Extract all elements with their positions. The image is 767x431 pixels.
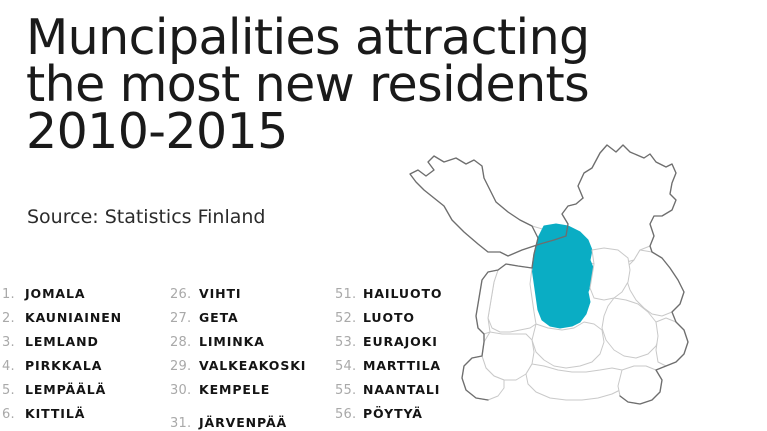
list-item-rank: 6.: [2, 407, 25, 422]
infographic-root: Muncipalities attracting the most new re…: [0, 0, 767, 431]
list-item[interactable]: 55.NAANTALI: [335, 379, 440, 403]
list-item-rank: 26.: [170, 287, 199, 302]
map-region-highlighted: [532, 224, 594, 328]
list-item[interactable]: 2.KAUNIAINEN: [2, 307, 122, 331]
municipality-rankings: 1.JOMALA 2.KAUNIAINEN 3.LEMLAND 4.PIRKKA…: [0, 283, 500, 431]
list-item-rank: 52.: [335, 311, 363, 326]
list-item-label: LUOTO: [363, 310, 415, 325]
source-caption: Source: Statistics Finland: [27, 206, 265, 228]
list-item[interactable]: 31.JÄRVENPÄÄ: [170, 412, 287, 431]
list-item-label: VALKEAKOSKI: [199, 358, 306, 373]
list-item[interactable]: 54.MARTTILA: [335, 355, 441, 379]
list-item-rank: 5.: [2, 383, 25, 398]
map-region-south-shore: [526, 364, 628, 400]
list-item[interactable]: 29.VALKEAKOSKI: [170, 355, 306, 379]
list-item[interactable]: 1.JOMALA: [2, 283, 85, 307]
list-item-rank: 28.: [170, 335, 199, 350]
list-item-rank: 54.: [335, 359, 363, 374]
page-title: Muncipalities attracting the most new re…: [26, 14, 590, 155]
list-item[interactable]: 30.KEMPELE: [170, 379, 270, 403]
list-item-label: PÖYTYÄ: [363, 406, 423, 421]
list-item-rank: 30.: [170, 383, 199, 398]
list-item-label: JOMALA: [25, 286, 85, 301]
list-item-label: PIRKKALA: [25, 358, 102, 373]
map-region-east-lobe: [656, 318, 688, 366]
list-item-rank: 29.: [170, 359, 199, 374]
list-item-rank: 3.: [2, 335, 25, 350]
list-item[interactable]: 4.PIRKKALA: [2, 355, 102, 379]
list-item[interactable]: 56.PÖYTYÄ: [335, 403, 423, 427]
list-item-label: MARTTILA: [363, 358, 441, 373]
title-line-1: Muncipalities attracting: [26, 14, 590, 61]
list-item-rank: 56.: [335, 407, 363, 422]
list-item-rank: 4.: [2, 359, 25, 374]
list-item-label: KEMPELE: [199, 382, 270, 397]
list-item-rank: 53.: [335, 335, 363, 350]
list-item-rank: 51.: [335, 287, 363, 302]
list-item-label: KITTILÄ: [25, 406, 85, 421]
list-item-rank: 27.: [170, 311, 199, 326]
map-region-southeast-coastal: [618, 366, 662, 404]
list-item-label: LIMINKA: [199, 334, 265, 349]
title-line-3: 2010-2015: [26, 108, 590, 155]
list-item-label: JÄRVENPÄÄ: [199, 415, 287, 430]
list-item-label: EURAJOKI: [363, 334, 438, 349]
list-item[interactable]: 5.LEMPÄÄLÄ: [2, 379, 106, 403]
list-item-rank: 2.: [2, 311, 25, 326]
list-item-label: GETA: [199, 310, 239, 325]
list-item-label: KAUNIAINEN: [25, 310, 122, 325]
list-item[interactable]: 27.GETA: [170, 307, 239, 331]
list-item-label: LEMLAND: [25, 334, 99, 349]
list-item[interactable]: 6.KITTILÄ: [2, 403, 85, 427]
list-item[interactable]: 52.LUOTO: [335, 307, 415, 331]
list-item[interactable]: 53.EURAJOKI: [335, 331, 438, 355]
title-line-2: the most new residents: [26, 61, 590, 108]
list-item-rank: 1.: [2, 287, 25, 302]
list-item-label: LEMPÄÄLÄ: [25, 382, 106, 397]
list-item-rank: 31.: [170, 416, 199, 431]
map-region-south-central: [532, 322, 604, 368]
list-item[interactable]: 3.LEMLAND: [2, 331, 99, 355]
list-item[interactable]: 26.VIHTI: [170, 283, 241, 307]
list-item-label: NAANTALI: [363, 382, 440, 397]
list-item-label: HAILUOTO: [363, 286, 442, 301]
map-region-east-central: [590, 248, 630, 300]
list-item[interactable]: 51.HAILUOTO: [335, 283, 442, 307]
list-item[interactable]: 28.LIMINKA: [170, 331, 265, 355]
list-item-rank: 55.: [335, 383, 363, 398]
list-item-label: VIHTI: [199, 286, 241, 301]
